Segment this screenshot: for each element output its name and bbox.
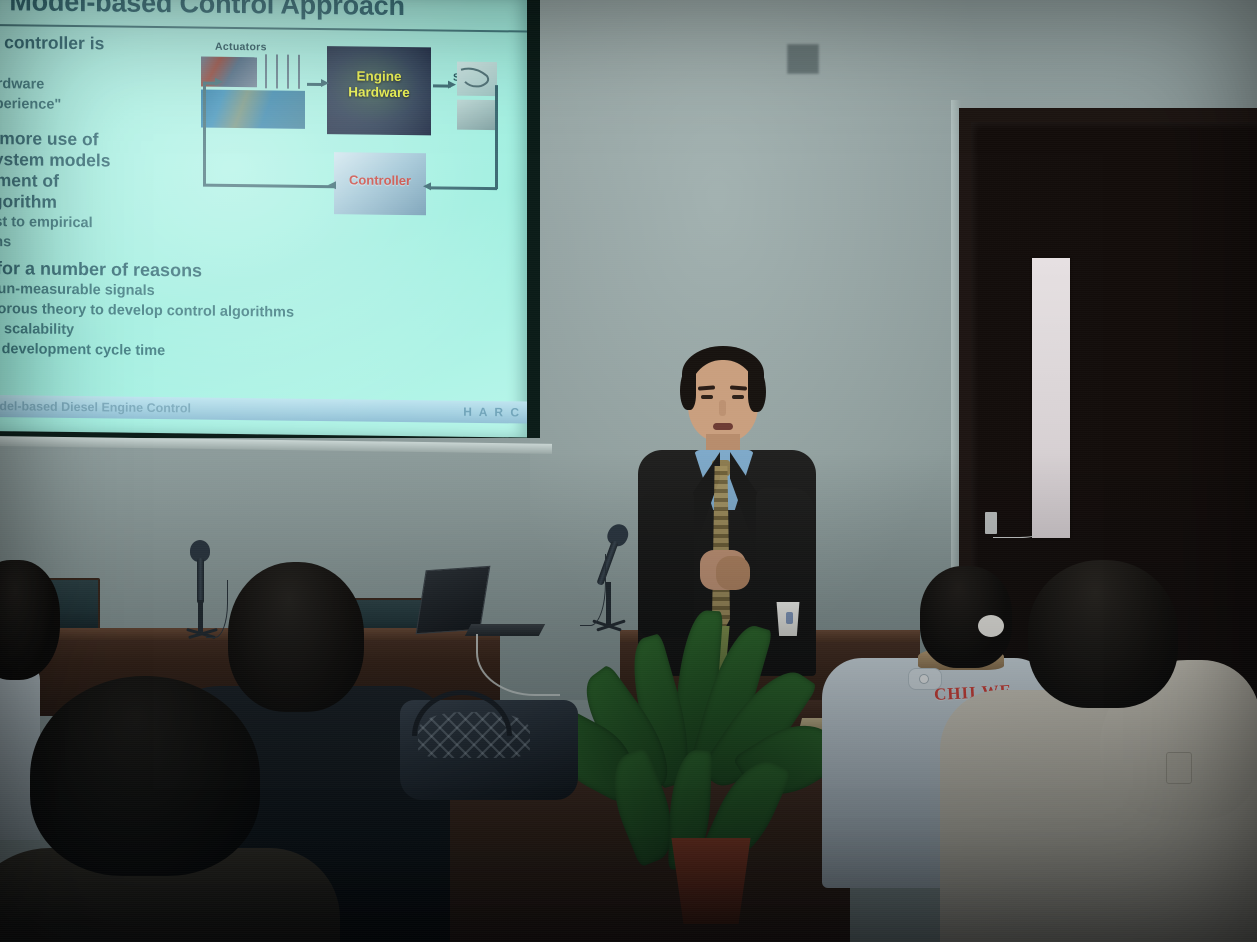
presenter-eye-left xyxy=(701,395,713,399)
jacket-button xyxy=(919,674,929,684)
feedback-left-horizontal xyxy=(203,184,335,188)
presentation-slide: fits of Model-based Control Approach ous… xyxy=(0,0,527,438)
beige-hood-attendee-head xyxy=(1028,560,1178,708)
presenter-mouth xyxy=(713,423,733,430)
slide-title: fits of Model-based Control Approach xyxy=(0,0,405,22)
sensor-photo-bottom xyxy=(457,100,497,130)
subbullet-line: ibrations xyxy=(0,231,250,255)
projection-screen: fits of Model-based Control Approach ous… xyxy=(0,0,540,442)
arrow-actuators-to-engine-head xyxy=(321,79,329,87)
slide-footer-text: of Model-based Diesel Engine Control xyxy=(0,399,191,416)
plant-pot xyxy=(668,838,754,924)
hood-pocket-tab xyxy=(1166,752,1192,784)
engine-label-line1: Engine xyxy=(356,68,401,84)
feedback-right-vertical xyxy=(495,85,498,189)
slide-title-rule xyxy=(0,24,527,33)
door-glass-panel xyxy=(1032,258,1070,538)
control-loop-diagram: Actuators Sensors Engine Hardware Contro… xyxy=(195,40,513,204)
diagram-actuators-label: Actuators xyxy=(215,41,267,54)
arrow-controller-out-head xyxy=(328,181,336,189)
presenter-hair-side-left xyxy=(680,368,696,410)
arrow-to-actuators-head xyxy=(215,78,223,86)
subbullet-line: contrast to empirical xyxy=(0,211,250,235)
microphone-capsule-icon xyxy=(604,521,632,550)
presenter-nose xyxy=(719,400,726,416)
feedback-right-horizontal xyxy=(431,186,497,189)
injector-photo xyxy=(261,54,305,89)
microphone-body xyxy=(197,558,204,604)
feedback-left-vertical xyxy=(203,82,206,186)
arrow-engine-to-sensors-head xyxy=(448,81,456,89)
microphone-cable xyxy=(206,580,228,638)
front-left-attendee-head xyxy=(228,562,364,712)
engine-hardware-label: Engine Hardware xyxy=(327,68,431,101)
presenter-hair-side-right xyxy=(748,368,766,412)
front-left-attendee-2-head xyxy=(30,676,260,876)
presenter-eye-right xyxy=(732,395,744,399)
slide-bullets-lower: ctive for a number of reasons obtain un-… xyxy=(0,257,420,364)
actuator-photo-bottom xyxy=(201,90,305,129)
presenter-hand-right xyxy=(716,556,750,590)
arrow-to-controller-head xyxy=(423,182,431,190)
controller-label: Controller xyxy=(334,172,426,188)
lecture-photo-scene: fits of Model-based Control Approach ous… xyxy=(0,0,1257,942)
wall-wire xyxy=(993,528,1037,538)
wall-speaker-icon xyxy=(787,44,819,74)
microphone-stand-column xyxy=(198,600,203,632)
hair-scrunchie xyxy=(978,615,1004,637)
engine-label-line2: Hardware xyxy=(348,84,410,100)
slide-footer-logo: H A R C xyxy=(463,405,521,420)
sensor-cable-icon xyxy=(459,64,495,94)
